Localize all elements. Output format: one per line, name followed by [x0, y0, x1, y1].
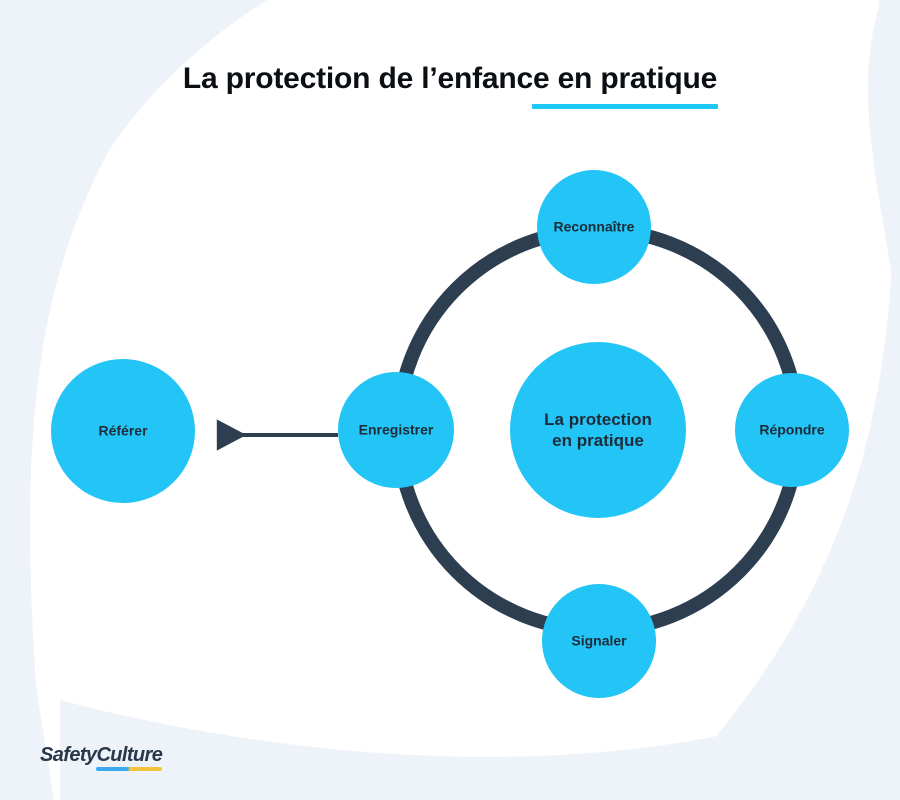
- page-title-container: La protection de l’enfance en pratique: [0, 62, 900, 96]
- page-title-text: La protection de l’enfance en pratique: [183, 62, 717, 95]
- node-circle-enregistrer[interactable]: [338, 372, 454, 488]
- logo-text: SafetyCulture: [40, 744, 162, 767]
- diagram-canvas: La protection de l’enfance en pratique L…: [0, 0, 900, 800]
- cycle-diagram: [0, 0, 900, 800]
- node-circle-repondre[interactable]: [735, 373, 849, 487]
- node-circle-signaler[interactable]: [542, 584, 656, 698]
- logo-word-culture-wrapper: Culture: [96, 744, 162, 766]
- logo-underline-accent: [96, 767, 162, 771]
- node-circle-referer[interactable]: [51, 359, 195, 503]
- node-circle-reconnaitre[interactable]: [537, 170, 651, 284]
- node-circle-center[interactable]: [510, 342, 686, 518]
- safetyculture-logo: SafetyCulture: [40, 744, 162, 767]
- page-title: La protection de l’enfance en pratique: [183, 62, 717, 96]
- logo-word-safety: Safety: [40, 744, 96, 766]
- logo-word-culture: Culture: [96, 744, 162, 766]
- title-underline-accent: [532, 104, 718, 109]
